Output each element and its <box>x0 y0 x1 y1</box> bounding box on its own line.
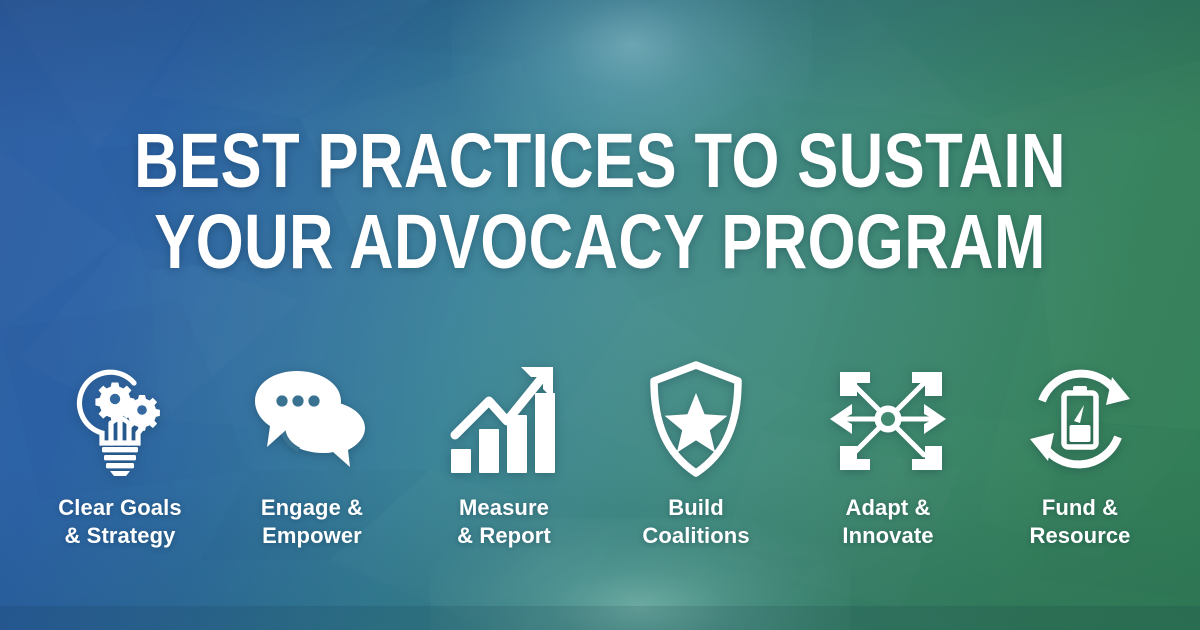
bar-chart-growth-arrow-icon <box>449 358 559 480</box>
page-title-line-2: Your Advocacy Program <box>120 205 1080 280</box>
best-practices-pillar-row: Clear Goals & Strategy <box>0 358 1200 549</box>
speech-bubbles-icon <box>253 358 371 480</box>
pillar-label: Adapt & Innovate <box>842 494 933 549</box>
pillar-fund-resource: Fund & Resource <box>984 358 1176 549</box>
pillar-label: Fund & Resource <box>1029 494 1130 549</box>
battery-recycle-icon <box>1026 358 1134 480</box>
pillar-label: Clear Goals & Strategy <box>58 494 181 549</box>
radiating-arrows-network-icon <box>830 358 946 480</box>
pillar-measure-report: Measure & Report <box>408 358 600 549</box>
advocacy-best-practices-banner: Best Practices to Sustain Your Advocacy … <box>0 0 1200 630</box>
bottom-band-edge <box>0 606 1200 630</box>
pillar-label: Build Coalitions <box>642 494 749 549</box>
pillar-clear-goals-strategy: Clear Goals & Strategy <box>24 358 216 549</box>
pillar-build-coalitions: Build Coalitions <box>600 358 792 549</box>
pillar-engage-empower: Engage & Empower <box>216 358 408 549</box>
pillar-label: Measure & Report <box>457 494 551 549</box>
page-title: Best Practices to Sustain Your Advocacy … <box>0 124 1200 279</box>
pillar-label: Engage & Empower <box>261 494 363 549</box>
shield-star-icon <box>648 358 744 480</box>
lightbulb-gears-icon <box>68 358 172 480</box>
page-title-line-1: Best Practices to Sustain <box>120 124 1080 199</box>
pillar-adapt-innovate: Adapt & Innovate <box>792 358 984 549</box>
